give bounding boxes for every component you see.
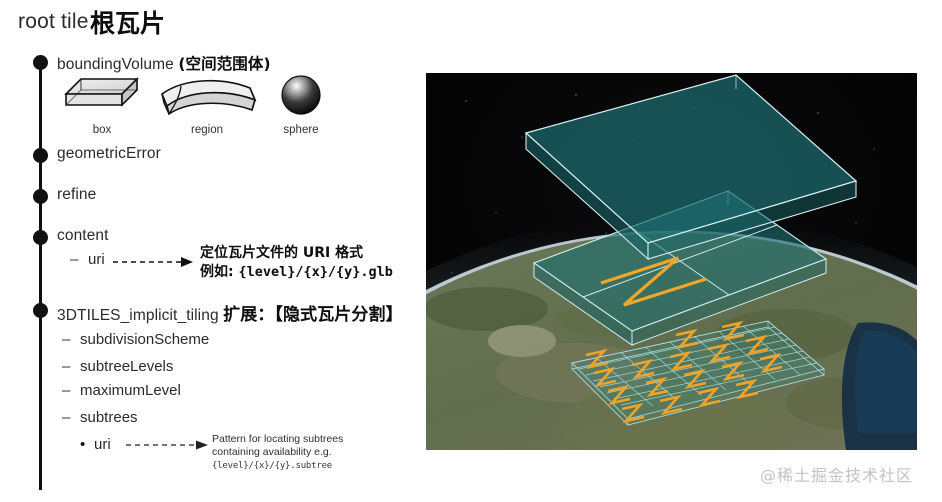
outline-node-maximumlevel-label: maximumLevel: [80, 382, 181, 399]
implicit-tiling-earth-illustration: [426, 73, 917, 450]
outline-node-geometricerror[interactable]: geometricError: [57, 145, 161, 163]
outline-node-subtrees[interactable]: –subtrees: [62, 409, 138, 426]
earth-tiles-svg: [426, 73, 917, 450]
outline-node-subtrees-uri[interactable]: •uri: [80, 436, 111, 453]
region-icon: [156, 76, 258, 118]
outline-node-subdivisionscheme-label: subdivisionScheme: [80, 331, 209, 348]
dash-marker-icon: –: [62, 382, 80, 399]
outline-node-content[interactable]: content: [57, 227, 109, 245]
uri-annotation: 定位瓦片文件的 URI 格式 例如: {level}/{x}/{y}.glb: [200, 244, 393, 282]
outline-node-geometricerror-label: geometricError: [57, 145, 161, 162]
spine-dot-refine: [33, 189, 48, 204]
watermark: @稀土掘金技术社区: [760, 462, 913, 486]
box-shape: box: [64, 76, 140, 136]
outline-node-content-uri-label: uri: [88, 251, 105, 268]
outline-node-content-label: content: [57, 227, 109, 244]
bullet-marker-icon: •: [80, 436, 94, 453]
region-shape-caption: region: [156, 124, 258, 136]
subtrees-uri-annotation-line1: Pattern for locating subtrees: [212, 433, 343, 446]
outline-node-subtrees-uri-label: uri: [94, 436, 111, 453]
outline-node-boundingvolume[interactable]: boundingVolume (空间范围体): [57, 52, 271, 74]
outline-node-refine-label: refine: [57, 186, 96, 203]
subtrees-uri-annotation-line3: {level}/{x}/{y}.subtree: [212, 461, 343, 471]
uri-annotation-arrow-icon: [113, 255, 197, 269]
outline-node-refine[interactable]: refine: [57, 186, 96, 204]
dash-marker-icon: –: [62, 409, 80, 426]
uri-annotation-line2-prefix: 例如:: [200, 264, 238, 280]
spine-dot-geometricerror: [33, 148, 48, 163]
dash-marker-icon: –: [70, 251, 88, 268]
subtrees-uri-annotation-line2: containing availability e.g.: [212, 446, 343, 459]
outline-panel: root tile 根瓦片 boundingVolume (空间范围体): [0, 0, 426, 502]
outline-node-subtrees-label: subtrees: [80, 409, 138, 426]
uri-annotation-line2-code: {level}/{x}/{y}.glb: [238, 264, 392, 280]
outline-node-subtreelevels-label: subtreeLevels: [80, 358, 173, 375]
outline-node-content-uri[interactable]: –uri: [70, 251, 105, 268]
bounding-volume-shapes: box region: [64, 76, 324, 138]
outline-node-boundingvolume-cn: (空间范围体): [178, 55, 270, 73]
outline-node-subtreelevels[interactable]: –subtreeLevels: [62, 358, 173, 375]
outline-node-implicit-tiling-cn: 扩展：【隐式瓦片分割】: [223, 305, 403, 325]
outline-node-maximumlevel[interactable]: –maximumLevel: [62, 382, 181, 399]
outline-node-subdivisionscheme[interactable]: –subdivisionScheme: [62, 331, 209, 348]
uri-annotation-line2: 例如: {level}/{x}/{y}.glb: [200, 263, 393, 282]
sphere-shape: sphere: [272, 74, 330, 136]
spine-dot-implicit-tiling: [33, 303, 48, 318]
region-shape: region: [156, 76, 258, 136]
dash-marker-icon: –: [62, 331, 80, 348]
spine-dot-boundingvolume: [33, 55, 48, 70]
outline-node-implicit-tiling[interactable]: 3DTILES_implicit_tiling 扩展：【隐式瓦片分割】: [57, 300, 403, 325]
page-title-cn: 根瓦片: [90, 4, 165, 40]
subtrees-uri-annotation-arrow-icon: [124, 438, 214, 452]
sphere-icon: [272, 74, 330, 118]
uri-annotation-line1: 定位瓦片文件的 URI 格式: [200, 244, 393, 263]
outline-spine: [39, 60, 42, 490]
box-shape-caption: box: [64, 124, 140, 136]
spine-dot-content: [33, 230, 48, 245]
outline-node-boundingvolume-label: boundingVolume: [57, 56, 174, 73]
dash-marker-icon: –: [62, 358, 80, 375]
sphere-shape-caption: sphere: [272, 124, 330, 136]
page-title-en: root tile: [18, 10, 89, 34]
subtrees-uri-annotation: Pattern for locating subtrees containing…: [212, 433, 343, 471]
outline-node-implicit-tiling-label: 3DTILES_implicit_tiling: [57, 307, 219, 324]
box-icon: [64, 76, 140, 118]
